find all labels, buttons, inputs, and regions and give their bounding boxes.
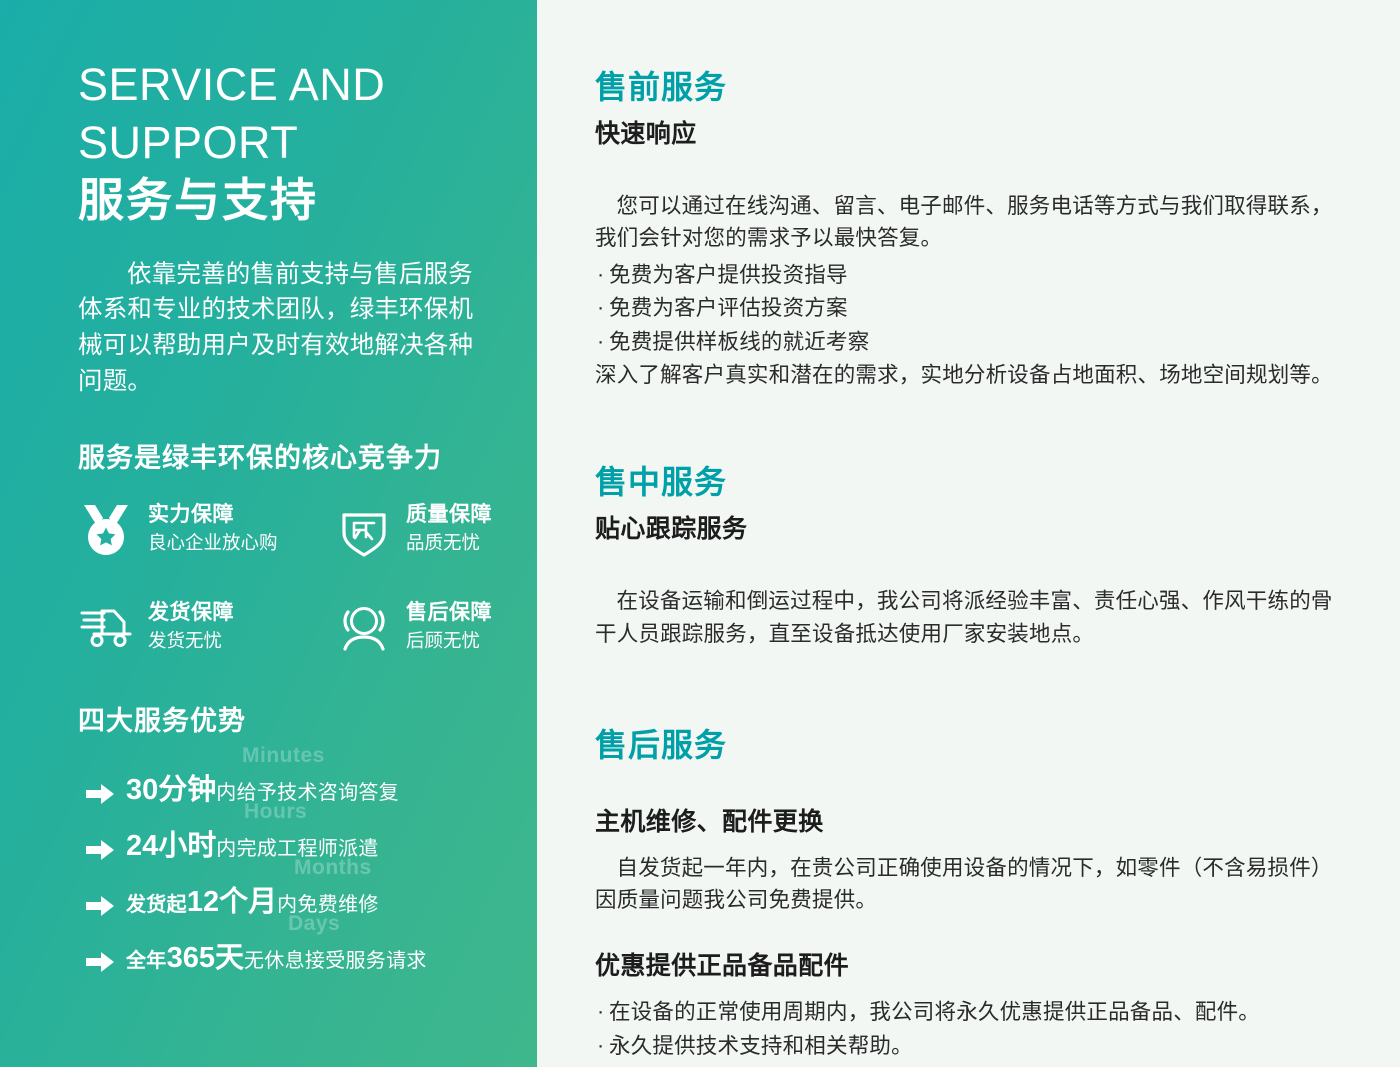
english-title-line1: SERVICE AND <box>78 56 497 114</box>
badge-title: 售后保障 <box>406 601 492 626</box>
advantage-body: Months 发货起 12个月 内免费维修 <box>126 878 379 920</box>
section-footer-text: 深入了解客户真实和潜在的需求，实地分析设备占地面积、场地空间规划等。 <box>595 359 1342 391</box>
arrow-right-icon <box>86 839 114 861</box>
badge-title: 实力保障 <box>148 503 278 528</box>
advantage-prefix: 全年 <box>126 944 167 973</box>
section-subheading: 快速响应 <box>595 114 1342 150</box>
badge-text: 售后保障 后顾无忧 <box>406 601 492 652</box>
section-bullet-list-2: 在设备的正常使用周期内，我公司将永久优惠提供正品备品、配件。 永久提供技术支持和… <box>595 996 1342 1063</box>
left-gradient-panel: SERVICE AND SUPPORT 服务与支持 依靠完善的售前支持与售后服务… <box>0 0 537 1067</box>
badge-item: 质量保障 品质无忧 <box>336 501 508 557</box>
spacer <box>595 916 1342 946</box>
poster-page: SERVICE AND SUPPORT 服务与支持 依靠完善的售前支持与售后服务… <box>0 0 1400 1067</box>
badge-subtitle: 品质无忧 <box>406 531 492 554</box>
advantage-watermark: Minutes <box>242 744 325 768</box>
advantages-title: 四大服务优势 <box>78 699 497 738</box>
advantage-suffix: 无休息接受服务请求 <box>244 944 427 973</box>
section-paragraph: 您可以通过在线沟通、留言、电子邮件、服务电话等方式与我们取得联系，我们会针对您的… <box>595 190 1342 255</box>
chinese-title: 服务与支持 <box>78 175 497 227</box>
advantage-number: 30分钟 <box>126 766 216 808</box>
badge-text: 实力保障 良心企业放心购 <box>148 503 278 554</box>
section-heading: 售后服务 <box>595 720 1342 766</box>
spacer <box>595 559 1342 585</box>
section-paragraph: 自发货起一年内，在贵公司正确使用设备的情况下，如零件（不含易损件）因质量问题我公… <box>595 852 1342 917</box>
advantage-row: Days 全年 365天 无休息接受服务请求 <box>78 920 497 976</box>
advantage-number: 365天 <box>167 934 244 976</box>
section-subheading-2: 优惠提供正品备品配件 <box>595 946 1342 982</box>
intro-paragraph: 依靠完善的售前支持与售后服务体系和专业的技术团队，绿丰环保机械可以帮助用户及时有… <box>78 257 497 400</box>
bullet-item: 在设备的正常使用周期内，我公司将永久优惠提供正品备品、配件。 <box>595 996 1342 1030</box>
advantage-body: Minutes 30分钟 内给予技术咨询答复 <box>126 766 399 808</box>
badge-item: 售后保障 后顾无忧 <box>336 599 508 655</box>
advantage-prefix: 发货起 <box>126 888 187 917</box>
spacer <box>595 650 1342 720</box>
badge-item: 发货保障 发货无忧 <box>78 599 336 655</box>
section-during-sales: 售中服务 贴心跟踪服务 在设备运输和倒运过程中，我公司将派经验丰富、责任心强、作… <box>595 457 1342 650</box>
english-title: SERVICE AND SUPPORT <box>78 56 497 171</box>
badge-item: 实力保障 良心企业放心购 <box>78 501 336 557</box>
bullet-item: 免费为客户提供投资指导 <box>595 259 1342 293</box>
badge-subtitle: 发货无忧 <box>148 629 234 652</box>
advantage-suffix: 内免费维修 <box>277 888 379 917</box>
advantage-row: Months 发货起 12个月 内免费维修 <box>78 864 497 920</box>
section-subheading: 贴心跟踪服务 <box>595 509 1342 545</box>
advantage-number: 12个月 <box>187 878 277 920</box>
spacer <box>595 772 1342 802</box>
section-pre-sales: 售前服务 快速响应 您可以通过在线沟通、留言、电子邮件、服务电话等方式与我们取得… <box>595 62 1342 391</box>
advantage-number: 24小时 <box>126 822 216 864</box>
arrow-right-icon <box>86 783 114 805</box>
badge-title: 质量保障 <box>406 503 492 528</box>
bullet-item: 永久提供技术支持和相关帮助。 <box>595 1030 1342 1064</box>
spacer <box>595 164 1342 190</box>
arrow-right-icon <box>86 895 114 917</box>
badge-subtitle: 良心企业放心购 <box>148 531 278 554</box>
spacer <box>595 391 1342 457</box>
truck-icon <box>78 599 134 655</box>
advantages-list: Minutes 30分钟 内给予技术咨询答复 Hours 24小时 内完成工程师… <box>78 752 497 976</box>
badge-grid: 实力保障 良心企业放心购 质量保障 品质无忧 <box>78 501 508 655</box>
section-bullet-list: 免费为客户提供投资指导 免费为客户评估投资方案 免费提供样板线的就近考察 <box>595 259 1342 360</box>
core-competitiveness-title: 服务是绿丰环保的核心竞争力 <box>78 436 497 475</box>
arrow-right-icon <box>86 951 114 973</box>
advantage-row: Hours 24小时 内完成工程师派遣 <box>78 808 497 864</box>
advantage-body: Hours 24小时 内完成工程师派遣 <box>126 822 379 864</box>
right-content-column: 售前服务 快速响应 您可以通过在线沟通、留言、电子邮件、服务电话等方式与我们取得… <box>537 0 1400 1067</box>
advantage-body: Days 全年 365天 无休息接受服务请求 <box>126 934 427 976</box>
headset-support-icon <box>336 599 392 655</box>
advantage-suffix: 内完成工程师派遣 <box>216 832 378 861</box>
advantage-suffix: 内给予技术咨询答复 <box>216 776 399 805</box>
badge-title: 发货保障 <box>148 601 234 626</box>
badge-text: 发货保障 发货无忧 <box>148 601 234 652</box>
medal-icon <box>78 501 134 557</box>
badge-subtitle: 后顾无忧 <box>406 629 492 652</box>
english-title-line2: SUPPORT <box>78 114 497 172</box>
section-subheading: 主机维修、配件更换 <box>595 802 1342 838</box>
section-paragraph: 在设备运输和倒运过程中，我公司将派经验丰富、责任心强、作风干练的骨干人员跟踪服务… <box>595 585 1342 650</box>
badge-text: 质量保障 品质无忧 <box>406 503 492 554</box>
bullet-item: 免费提供样板线的就近考察 <box>595 326 1342 360</box>
section-after-sales: 售后服务 主机维修、配件更换 自发货起一年内，在贵公司正确使用设备的情况下，如零… <box>595 720 1342 1064</box>
section-heading: 售中服务 <box>595 457 1342 503</box>
shield-quality-icon <box>336 501 392 557</box>
section-heading: 售前服务 <box>595 62 1342 108</box>
bullet-item: 免费为客户评估投资方案 <box>595 292 1342 326</box>
advantage-row: Minutes 30分钟 内给予技术咨询答复 <box>78 752 497 808</box>
